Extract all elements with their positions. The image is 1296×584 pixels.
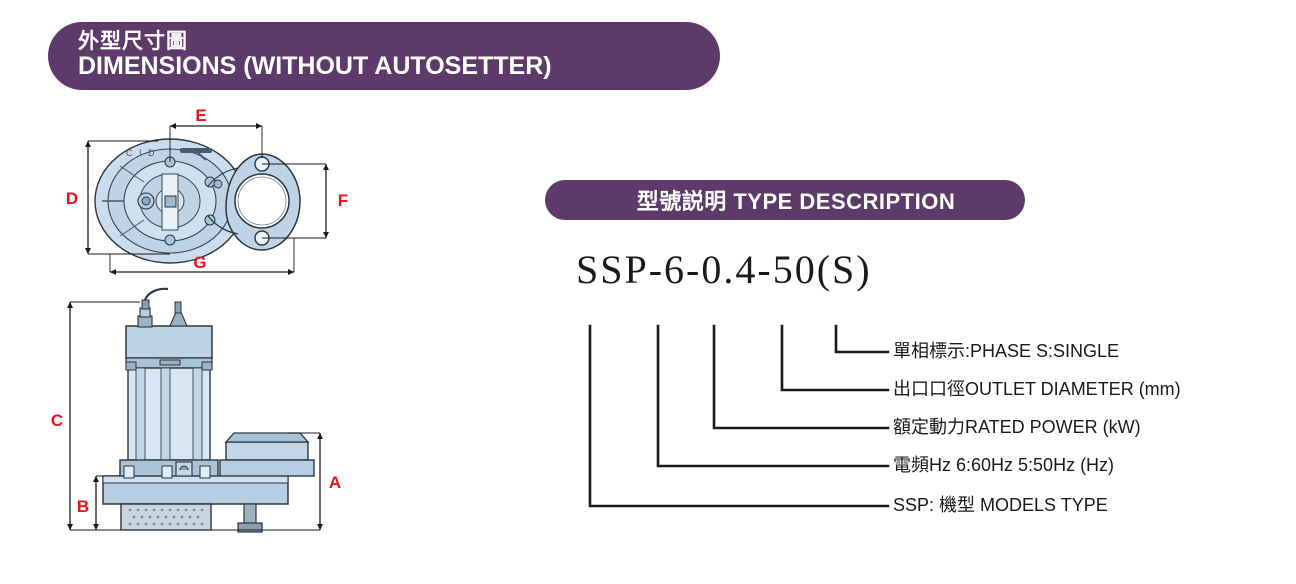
side-view-base — [103, 476, 288, 532]
pump-side-view-drawing: C B A — [48, 280, 358, 570]
leader-line-rated-power — [714, 326, 888, 428]
callout-label-phase: 單相標示:PHASE S:SINGLE — [893, 342, 1119, 360]
side-view-body — [120, 326, 218, 478]
svg-text:C I D: C I D — [126, 148, 157, 158]
dimension-letter-E: E — [195, 106, 206, 125]
side-view-cable-gland — [138, 289, 187, 327]
dimension-letter-G: G — [193, 253, 206, 272]
callout-label-rated-power: 額定動力RATED POWER (kW) — [893, 418, 1141, 436]
side-view-discharge-block — [220, 433, 314, 476]
callout-label-models-type: SSP: 機型 MODELS TYPE — [893, 496, 1108, 514]
callout-label-outlet-diameter: 出口口徑OUTLET DIAMETER (mm) — [893, 380, 1181, 398]
leader-line-phase — [836, 326, 888, 352]
pump-top-view-drawing: C I D — [58, 104, 358, 279]
dimension-letter-C: C — [51, 411, 63, 430]
dimension-letter-F: F — [338, 191, 348, 210]
dimension-letter-D: D — [66, 189, 78, 208]
dimension-letter-B: B — [77, 497, 89, 516]
leader-line-frequency — [658, 326, 888, 466]
dimension-letter-A: A — [329, 473, 341, 492]
callout-label-frequency: 電頻Hz 6:60Hz 5:50Hz (Hz) — [893, 456, 1114, 474]
